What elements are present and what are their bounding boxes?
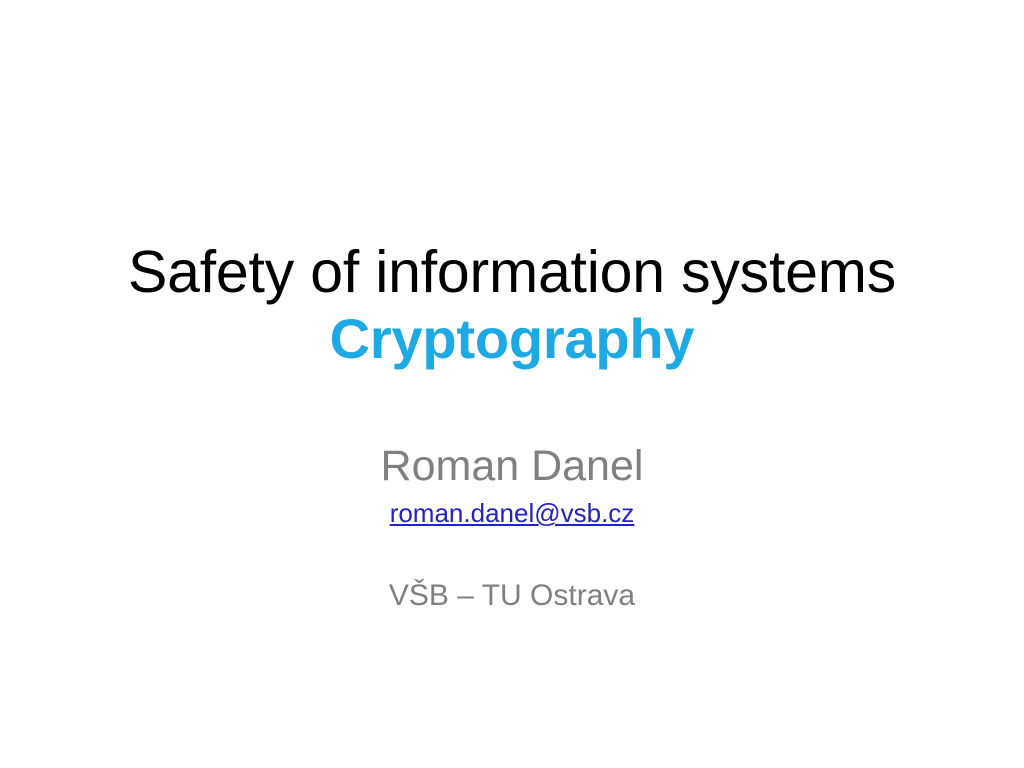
title-line-primary: Safety of information systems <box>60 238 964 306</box>
subtitle-spacer <box>112 535 912 577</box>
title-line-accent: Cryptography <box>60 306 964 372</box>
email-row: roman.danel@vsb.cz <box>112 496 912 535</box>
slide-title: Safety of information systems Cryptograp… <box>60 238 964 372</box>
author-name: Roman Danel <box>112 440 912 492</box>
author-email-link[interactable]: roman.danel@vsb.cz <box>390 498 635 528</box>
presentation-slide: Safety of information systems Cryptograp… <box>0 0 1024 768</box>
author-affiliation: VŠB – TU Ostrava <box>112 577 912 615</box>
slide-subtitle: Roman Danel roman.danel@vsb.cz VŠB – TU … <box>112 440 912 615</box>
